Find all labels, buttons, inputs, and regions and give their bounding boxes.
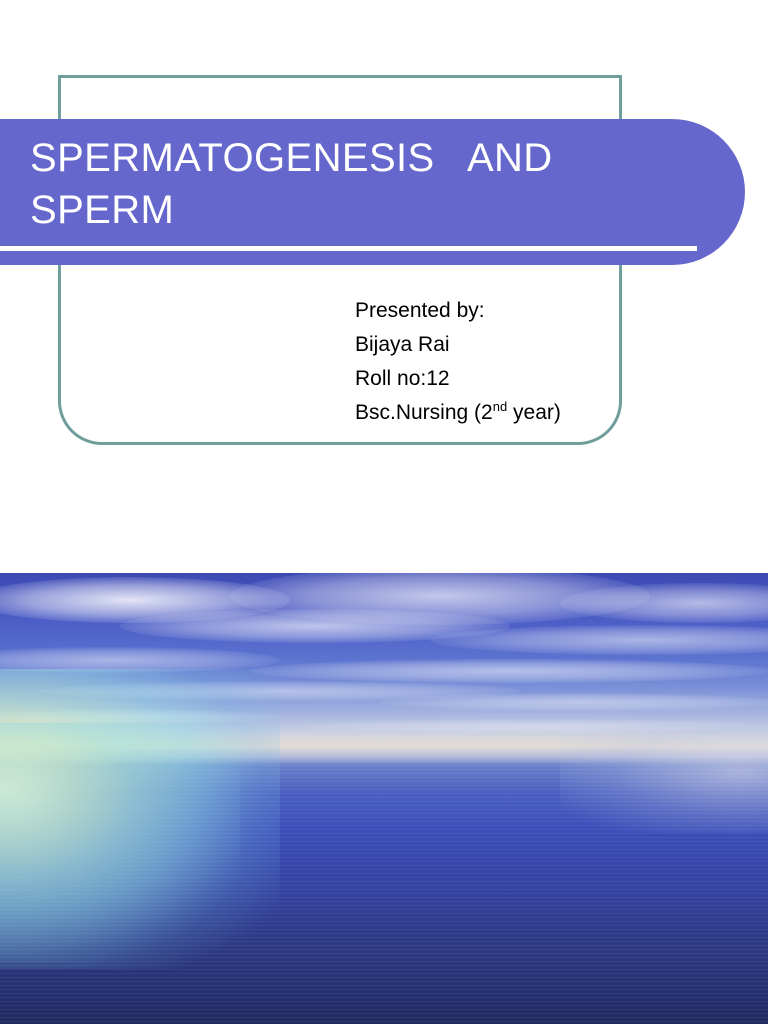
course-year-pre: Bsc.Nursing (2: [355, 401, 493, 424]
banner-underline-decoration: [0, 246, 697, 251]
roll-number: Roll no:12: [355, 362, 655, 396]
slide-contents: CONTENTS: • INTRODUCTION OF SPERMATOGENE…: [0, 573, 768, 1024]
course-year-post: year): [507, 401, 561, 424]
course-year: Bsc.Nursing (2nd year): [355, 396, 655, 430]
course-year-superscript: nd: [493, 399, 507, 414]
presented-by-label: Presented by:: [355, 294, 655, 328]
presenter-name: Bijaya Rai: [355, 328, 655, 362]
title-banner: SPERMATOGENESIS AND SPERM: [0, 119, 745, 265]
presenter-info: Presented by: Bijaya Rai Roll no:12 Bsc.…: [355, 294, 655, 430]
ocean-background-image: [0, 573, 768, 1024]
presentation-page: SPERMATOGENESIS AND SPERM Presented by: …: [0, 0, 768, 1024]
sunset-glow-inner: [0, 723, 240, 963]
page-title: SPERMATOGENESIS AND SPERM: [30, 132, 690, 236]
horizon-glow-right: [560, 723, 768, 833]
slide-title: SPERMATOGENESIS AND SPERM Presented by: …: [0, 0, 768, 573]
